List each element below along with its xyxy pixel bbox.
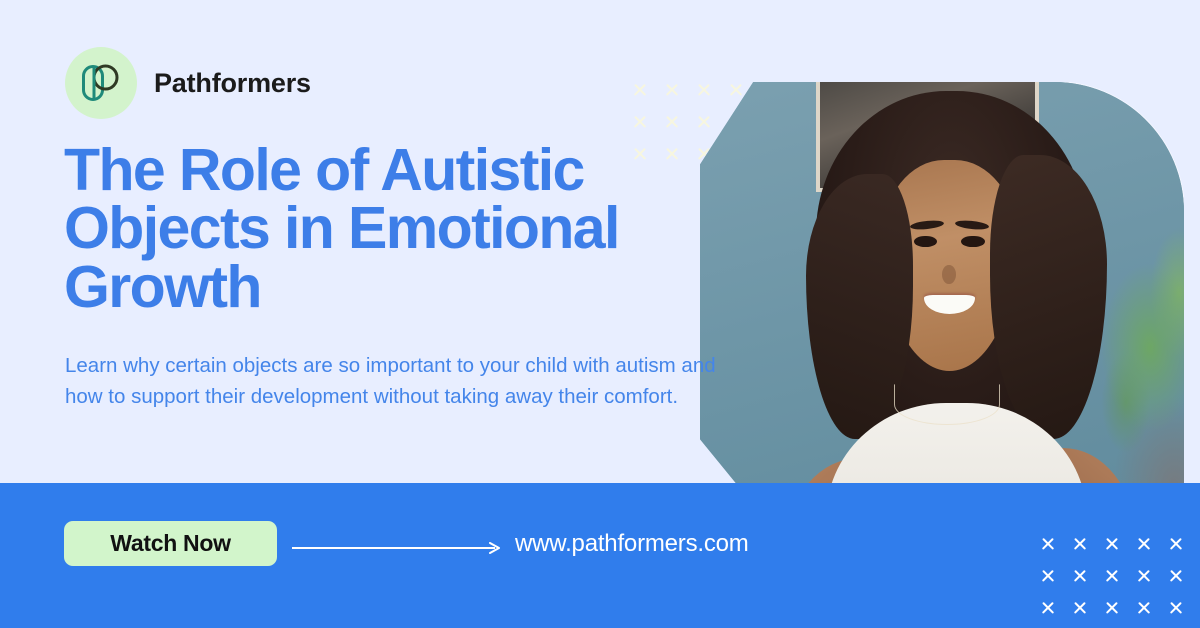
cross-icon — [628, 110, 652, 134]
subheading: Learn why certain objects are so importa… — [65, 350, 755, 412]
eyebrow-right — [954, 219, 989, 231]
smile — [924, 295, 975, 314]
cross-icon — [660, 110, 684, 134]
brand-logo[interactable]: Pathformers — [65, 47, 311, 119]
cross-icon — [692, 78, 716, 102]
arrow-right-icon — [292, 542, 504, 554]
website-url[interactable]: www.pathformers.com — [515, 530, 749, 558]
pathformers-p-monogram-icon — [65, 47, 137, 119]
cross-icon — [660, 78, 684, 102]
eyebrow-left — [910, 219, 945, 231]
nose — [942, 265, 956, 284]
promo-banner: Pathformers The Role of Autistic Objects… — [0, 0, 1200, 628]
portrait-photo — [700, 82, 1184, 540]
brand-name: Pathformers — [154, 68, 311, 99]
cross-icon — [692, 110, 716, 134]
eye-right — [961, 236, 984, 248]
page-title: The Role of Autistic Objects in Emotiona… — [64, 141, 764, 316]
eye-left — [914, 236, 937, 248]
cross-icon — [628, 78, 652, 102]
portrait-background — [700, 82, 1184, 540]
watch-now-button[interactable]: Watch Now — [64, 521, 277, 566]
